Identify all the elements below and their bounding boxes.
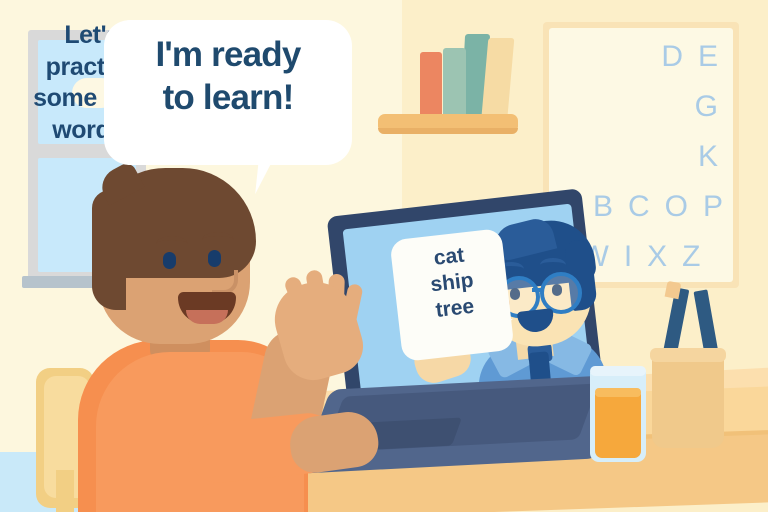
child-eyebrow-left: [156, 236, 188, 252]
letter-g: G: [695, 90, 719, 124]
letter-p: P: [703, 190, 724, 224]
child-hair-side: [92, 190, 126, 310]
letter-x: X: [647, 240, 668, 274]
letter-o: O: [665, 190, 689, 224]
juice-liquid: [595, 392, 641, 458]
illustration-scene: D E G K A B C O P W I X Z: [0, 0, 768, 512]
letter-c: C: [628, 190, 651, 224]
letter-k: K: [698, 140, 719, 174]
pencil-cup: [652, 352, 724, 448]
child-speech-line-2: to learn!: [104, 77, 352, 120]
teacher-word-list: cat ship tree: [392, 238, 512, 328]
alphabet-row-1: D E: [549, 40, 733, 74]
alphabet-row-3: K: [549, 140, 733, 174]
shelf-board-shadow: [378, 128, 518, 134]
teacher-bubble-tail: [491, 319, 514, 335]
pencil-cup-rim: [650, 348, 726, 362]
child-speech-text: I'm ready to learn!: [104, 34, 352, 119]
letter-z: Z: [682, 240, 701, 274]
alphabet-row-2: G: [549, 90, 733, 124]
glass-rim: [590, 366, 646, 376]
glasses-bridge: [532, 288, 542, 292]
book-sage: [443, 48, 466, 115]
letter-b: B: [593, 190, 614, 224]
child-eye-left: [163, 252, 176, 269]
letter-e: E: [698, 40, 719, 74]
child-speech-line-1: I'm ready: [104, 34, 352, 77]
child-eye-right: [208, 250, 221, 267]
pencil-one-tip: [665, 281, 682, 299]
juice-surface: [595, 388, 641, 397]
chair-leg: [56, 470, 74, 512]
child-eyebrow-right: [202, 232, 234, 248]
book-orange: [420, 52, 442, 115]
letter-i: I: [624, 240, 633, 274]
teacher-eyebrow-right: [540, 258, 566, 272]
letter-d: D: [661, 40, 684, 74]
